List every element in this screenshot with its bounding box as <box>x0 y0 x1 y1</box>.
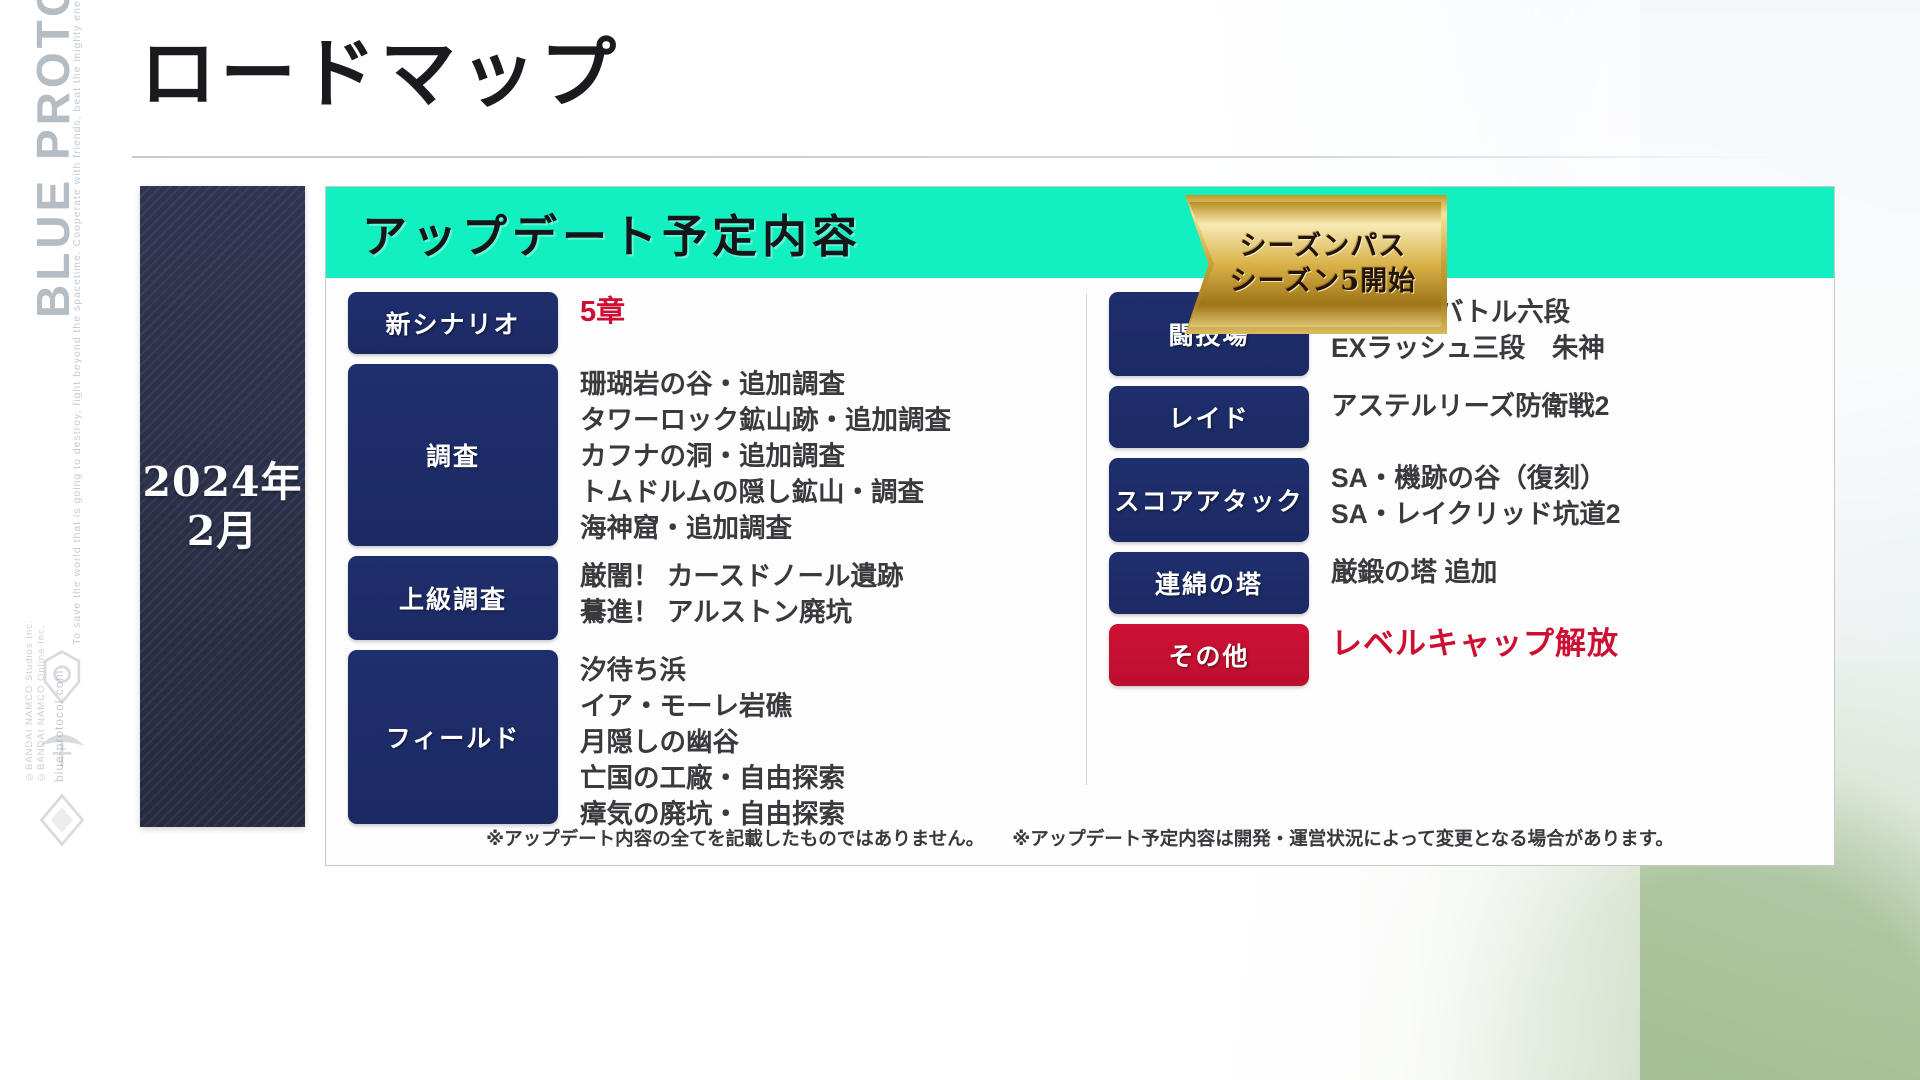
update-row: 連綿の塔厳鍛の塔 追加 <box>1109 552 1834 614</box>
footer-note-1: ※アップデート予定内容は開発・運営状況によって変更となる場合があります。 <box>1012 828 1674 849</box>
update-row: その他レベルキャップ解放 <box>1109 624 1834 686</box>
value-item: イア・モーレ岩礁 <box>580 688 845 724</box>
value-item: アステルリーズ防衛戦2 <box>1331 388 1609 424</box>
category-values: 5章 <box>580 292 625 330</box>
category-values: レベルキャップ解放 <box>1331 624 1619 662</box>
update-card: アップデート予定内容 新シナリオ5章調査珊瑚岩の谷・追加調査タワーロック鉱山跡・… <box>325 186 1835 866</box>
season-pass-ribbon: シーズンパスシーズン5開始 <box>1185 195 1447 334</box>
value-item: レベルキャップ解放 <box>1331 626 1619 662</box>
category-values: 厳鍛の塔 追加 <box>1331 552 1497 590</box>
value-item: 珊瑚岩の谷・追加調査 <box>580 366 951 402</box>
footer-note-0: ※アップデート内容の全てを記載したものではありません。 <box>486 828 984 849</box>
value-item: 厳闇！ カースドノール遺跡 <box>580 558 904 594</box>
value-item: SA・機跡の谷（復刻） <box>1331 460 1621 496</box>
season-pass-ribbon-text: シーズンパスシーズン5開始 <box>1214 230 1416 299</box>
season-pass-ribbon-inner: シーズンパスシーズン5開始 <box>1189 202 1441 327</box>
update-row: レイドアステルリーズ防衛戦2 <box>1109 386 1834 448</box>
value-item: 亡国の工廠・自由探索 <box>580 760 845 796</box>
brand-tagline: To save the world that is going to destr… <box>70 345 85 645</box>
brand-rail: BLUE PROTOCOL To save the world that is … <box>0 0 132 1080</box>
update-row: フィールド汐待ち浜イア・モーレ岩礁月隠しの幽谷亡国の工廠・自由探索瘴気の廃坑・自… <box>348 650 1086 832</box>
card-columns: 新シナリオ5章調査珊瑚岩の谷・追加調査タワーロック鉱山跡・追加調査カフナの洞・追… <box>326 278 1834 803</box>
update-row: 調査珊瑚岩の谷・追加調査タワーロック鉱山跡・追加調査カフナの洞・追加調査トムドル… <box>348 364 1086 546</box>
value-item: タワーロック鉱山跡・追加調査 <box>580 402 951 438</box>
value-item: 海神窟・追加調査 <box>580 510 951 546</box>
category-values: SA・機跡の谷（復刻）SA・レイクリッド坑道2 <box>1331 458 1621 532</box>
category-values: 汐待ち浜イア・モーレ岩礁月隠しの幽谷亡国の工廠・自由探索瘴気の廃坑・自由探索 <box>580 650 845 832</box>
value-item: EXラッシュ三段 朱神 <box>1331 330 1605 366</box>
footer-notes: ※アップデート内容の全てを記載したものではありません。※アップデート予定内容は開… <box>326 825 1834 851</box>
crest-emblem-icon <box>32 648 92 708</box>
category-chip-left-1[interactable]: 調査 <box>348 364 558 546</box>
date-label: 2024年2月 <box>142 458 302 555</box>
category-chip-left-0[interactable]: 新シナリオ <box>348 292 558 354</box>
value-item: SA・レイクリッド坑道2 <box>1331 496 1621 532</box>
category-chip-right-2[interactable]: スコアアタック <box>1109 458 1309 542</box>
crest-sigil-icon <box>32 790 92 850</box>
right-column: 闘技場ラッシュバトル六段EXラッシュ三段 朱神レイドアステルリーズ防衛戦2スコア… <box>1087 278 1834 803</box>
update-row: スコアアタックSA・機跡の谷（復刻）SA・レイクリッド坑道2 <box>1109 458 1834 542</box>
category-values: アステルリーズ防衛戦2 <box>1331 386 1609 424</box>
update-row: 新シナリオ5章 <box>348 292 1086 354</box>
value-item: カフナの洞・追加調査 <box>580 438 951 474</box>
value-item: 5章 <box>580 294 625 330</box>
card-banner: アップデート予定内容 <box>326 187 1834 278</box>
category-values: 珊瑚岩の谷・追加調査タワーロック鉱山跡・追加調査カフナの洞・追加調査トムドルムの… <box>580 364 951 546</box>
category-chip-right-1[interactable]: レイド <box>1109 386 1309 448</box>
category-chip-right-3[interactable]: 連綿の塔 <box>1109 552 1309 614</box>
value-item: トムドルムの隠し鉱山・調査 <box>580 474 951 510</box>
value-item: 汐待ち浜 <box>580 652 845 688</box>
category-values: 厳闇！ カースドノール遺跡驀進！ アルストン廃坑 <box>580 556 904 630</box>
banner-title: アップデート予定内容 <box>362 200 862 265</box>
category-chip-left-3[interactable]: フィールド <box>348 650 558 824</box>
update-row: 上級調査厳闇！ カースドノール遺跡驀進！ アルストン廃坑 <box>348 556 1086 640</box>
value-item: 驀進！ アルストン廃坑 <box>580 594 904 630</box>
value-item: 厳鍛の塔 追加 <box>1331 554 1497 590</box>
page-title: ロードマップ <box>140 34 620 114</box>
category-chip-left-2[interactable]: 上級調査 <box>348 556 558 640</box>
value-item: 月隠しの幽谷 <box>580 724 845 760</box>
left-column: 新シナリオ5章調査珊瑚岩の谷・追加調査タワーロック鉱山跡・追加調査カフナの洞・追… <box>326 278 1086 803</box>
title-divider <box>132 156 1787 158</box>
date-panel: 2024年2月 <box>140 186 305 827</box>
crest-wing-icon <box>32 714 92 774</box>
category-chip-right-4[interactable]: その他 <box>1109 624 1309 686</box>
